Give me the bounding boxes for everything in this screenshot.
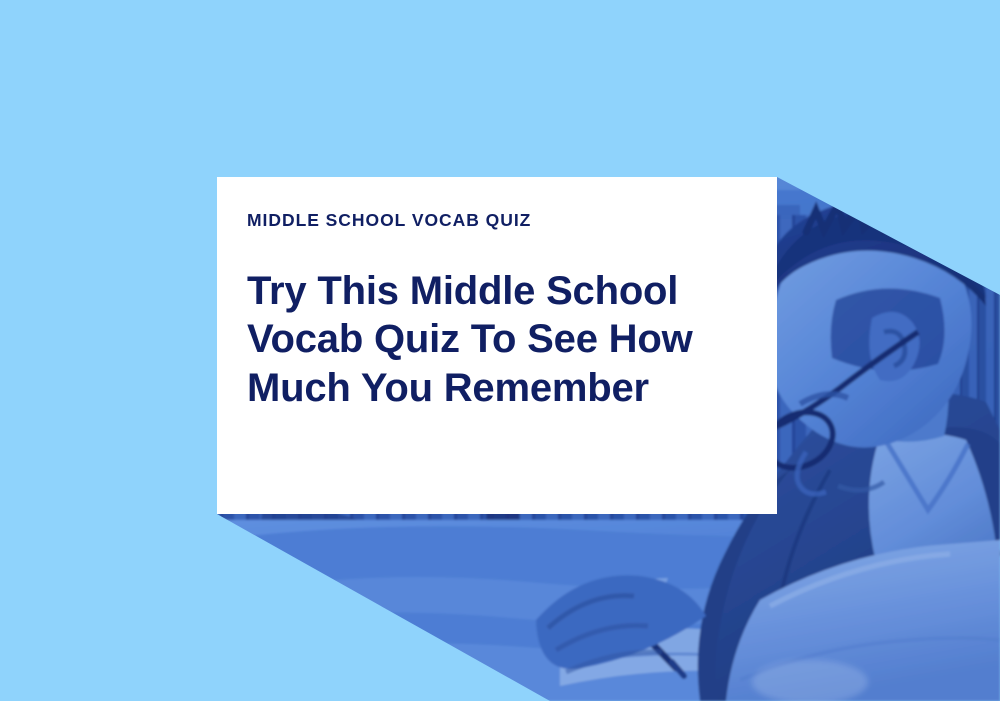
promo-banner: MIDDLE SCHOOL VOCAB QUIZ Try This Middle… bbox=[0, 0, 1000, 701]
page-title: Try This Middle School Vocab Quiz To See… bbox=[247, 267, 707, 412]
eyebrow-label: MIDDLE SCHOOL VOCAB QUIZ bbox=[247, 210, 737, 231]
content-card: MIDDLE SCHOOL VOCAB QUIZ Try This Middle… bbox=[217, 177, 777, 514]
